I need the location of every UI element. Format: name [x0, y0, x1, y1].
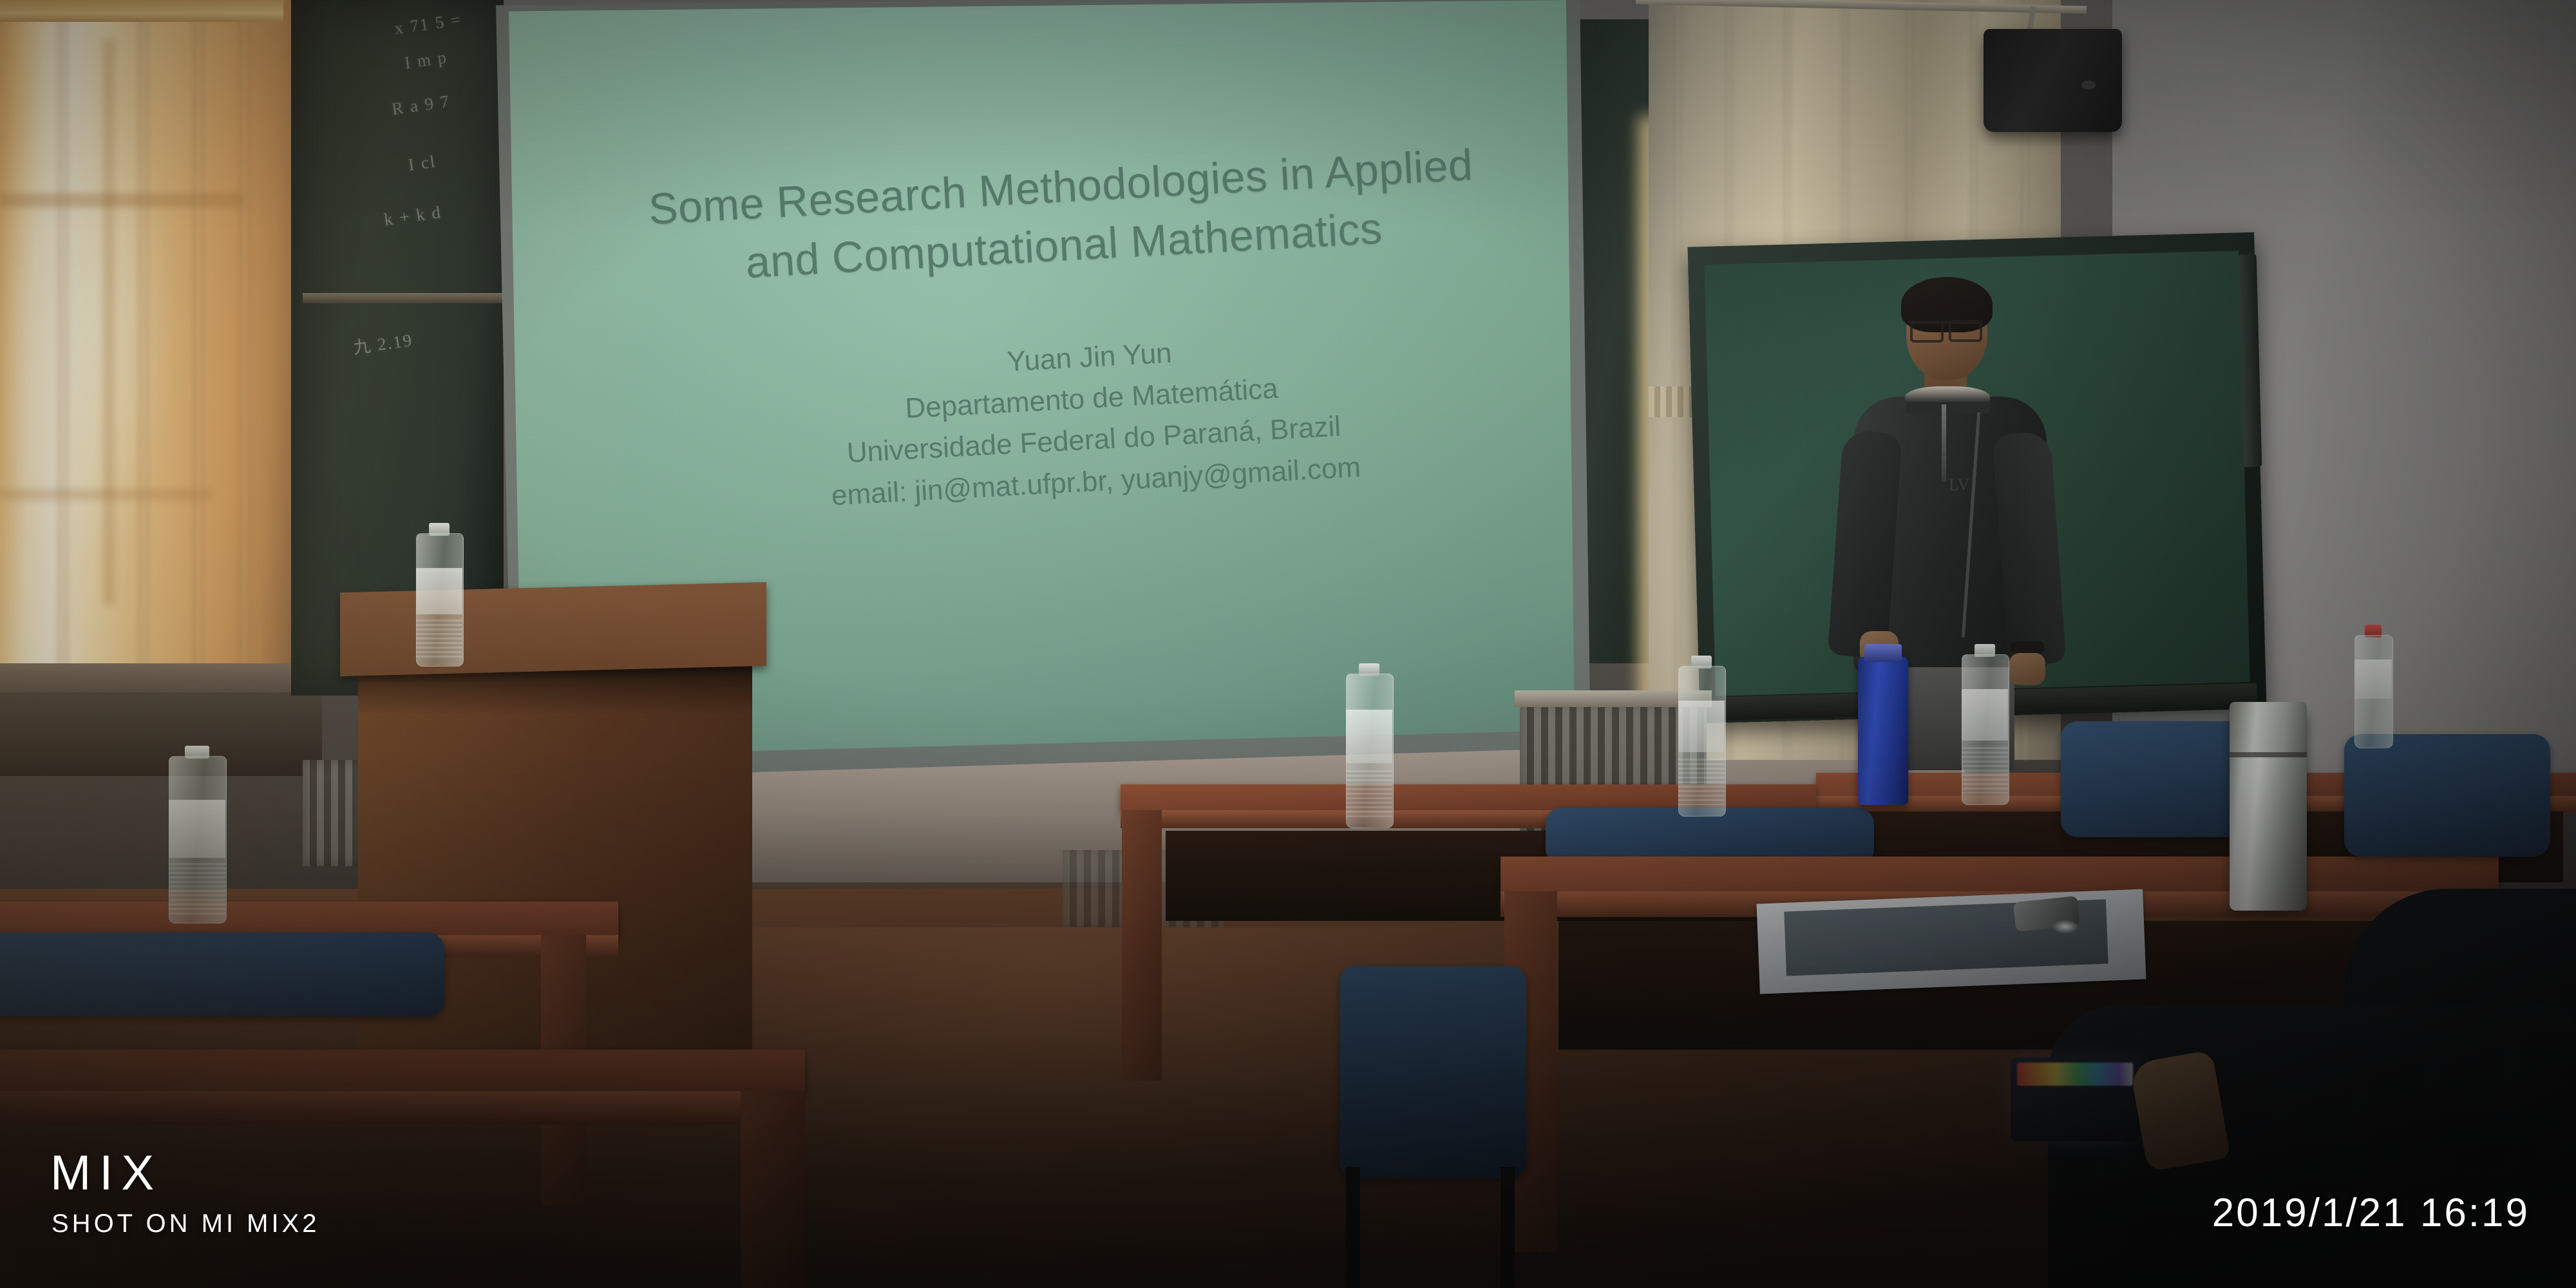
blue-water-bottle[interactable]: [1858, 657, 1908, 805]
presenter-collar: [1905, 386, 1990, 413]
chair-back-far-right[interactable]: [2061, 721, 2254, 837]
water-bottle-left-desk[interactable]: [169, 746, 225, 926]
bottle-ridges: [1962, 747, 2008, 793]
window-mullion-vertical: [103, 39, 115, 605]
curtain-fold: [193, 10, 204, 667]
window-sill-under: [0, 692, 322, 776]
bottle-label: [1678, 701, 1725, 752]
glasses-lens-left: [1910, 321, 1944, 343]
water-bottle-center-right[interactable]: [1678, 656, 1725, 817]
chalk-tray: [303, 293, 502, 303]
smartphone-screen: [2017, 1063, 2133, 1086]
keys-highlight: [2052, 920, 2079, 934]
chalk-writing: I cl: [407, 151, 437, 175]
classroom-photo: x 71 5 = I m p R a 9 7 I cl k + k d 九 2.…: [0, 0, 2576, 1288]
presenter-hand-right: [2009, 653, 2045, 685]
bottle-label: [1346, 710, 1392, 763]
chair-back-far-right-2[interactable]: [2344, 734, 2550, 857]
left-window-curtain: [0, 0, 298, 673]
chair-leg-front-center-2: [1501, 1167, 1515, 1288]
chair-back-front-center[interactable]: [1340, 966, 1526, 1179]
thermos-flask-cap: [2230, 702, 2307, 757]
curtain-pelmet: [0, 0, 283, 22]
bottle-label: [2354, 659, 2392, 699]
jacket-logo: LV: [1949, 475, 1995, 495]
desk-foreground-edge: [0, 1091, 805, 1124]
desk-front-right-top: [1501, 857, 2499, 894]
bottle-ridges: [416, 620, 462, 659]
bottle-label: [1962, 689, 2008, 741]
desk-foreground-leg: [741, 1091, 805, 1288]
speaker-cone-icon: [2081, 80, 2096, 90]
bottle-label: [169, 800, 225, 858]
window-mullion-horizontal-lower: [0, 489, 213, 500]
water-bottle-presenter[interactable]: [1962, 644, 2008, 805]
thermos-flask-band: [2230, 752, 2307, 757]
desk-middle-leg-left: [1122, 810, 1162, 1081]
chair-back-left[interactable]: [0, 933, 444, 1016]
curtain-fold: [1674, 0, 1681, 760]
window-mullion-horizontal: [0, 193, 245, 207]
bottle-label: [416, 568, 462, 614]
glasses-lens-right: [1949, 320, 1982, 342]
wristwatch: [2011, 641, 2044, 653]
water-bottle-center-left[interactable]: [1346, 663, 1392, 829]
bottle-ridges: [1346, 770, 1392, 818]
bottle-ridges: [169, 863, 225, 914]
curtain-fold: [138, 10, 149, 667]
podium-lectern-top: [340, 582, 766, 676]
curtain-fold: [240, 10, 250, 667]
water-bottle-podium[interactable]: [416, 523, 462, 668]
blue-water-bottle-cap: [1864, 644, 1902, 662]
jacket-zipper: [1942, 404, 1946, 482]
chair-leg-front-center: [1346, 1167, 1360, 1288]
water-bottle-far-right[interactable]: [2354, 625, 2392, 747]
wall-speaker: [1984, 29, 2122, 132]
curtain-fold: [58, 10, 68, 667]
desk-foreground-top: [0, 1050, 805, 1095]
bottle-ridges: [1678, 759, 1725, 805]
